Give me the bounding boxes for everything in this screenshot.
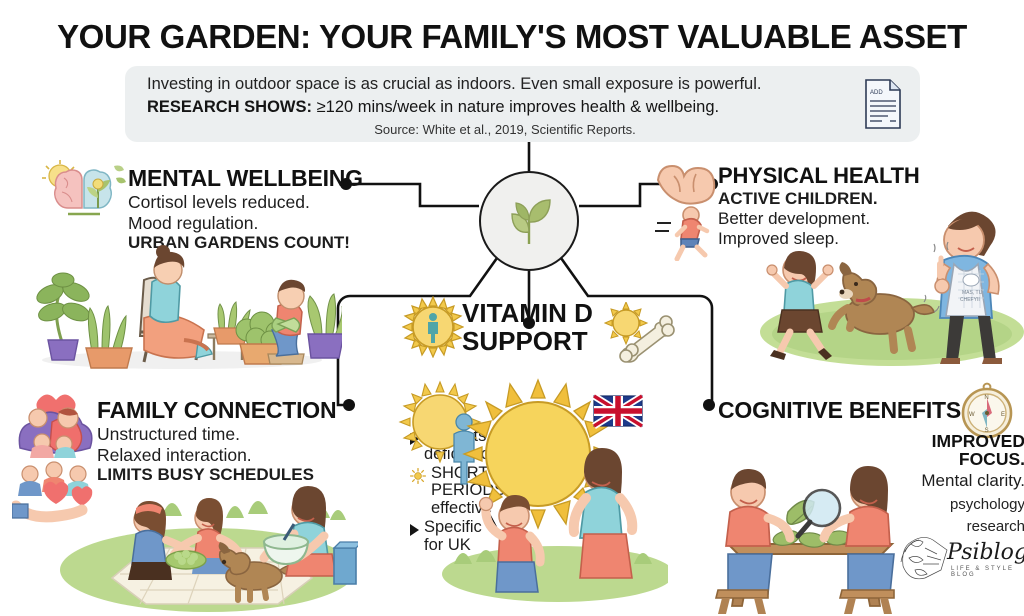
vitamin-d-heading-line2: SUPPORT [462,328,593,356]
illustration-cognitive-scene [700,440,920,616]
doc-icon-text: ADD [870,90,883,96]
logo-wordmark: Psiblog [947,540,1024,565]
compass-n: N [984,395,988,401]
cognitive-body: IMPROVED FOCUS. Mental clarity. psycholo… [905,432,1024,536]
family-line-1: Unstructured time. [97,424,336,445]
callout-line-2: RESEARCH SHOWS: ≥120 mins/week in nature… [147,98,719,117]
mental-line-1: Cortisol levels reduced. [128,192,363,213]
wire-dot-family [343,399,355,411]
uk-flag-icon [594,396,642,426]
running-child-icon [655,205,717,261]
research-shows-label: RESEARCH SHOWS: [147,98,312,116]
cognitive-emphasis-2: FOCUS. [905,450,1024,468]
illustration-physical-scene: MAS, TU CHEFYII [752,182,1024,372]
research-shows-text: ≥120 mins/week in nature improves health… [312,98,719,116]
logo-tagline: LIFE & STYLE BLOG [951,566,1020,578]
mental-heading: MENTAL WELLBEING [128,165,363,192]
family-heading: FAMILY CONNECTION [97,397,336,424]
illustration-family-scene [58,462,358,614]
sprout-leaf-icon [502,194,556,248]
apron-text: MAS, TU [962,290,983,296]
sun-person-icon [402,296,464,358]
research-callout-box: Investing in outdoor space is as crucial… [125,66,920,142]
sun-bone-icon [604,302,676,366]
illustration-mental-scene [32,222,342,370]
cognitive-note-1: psychology [905,497,1024,514]
document-add-icon: ADD [862,77,904,131]
cognitive-emphasis-1: IMPROVED [905,432,1024,450]
wire-dot-cognitive [703,399,715,411]
compass-e: E [1001,412,1005,418]
cognitive-line: Mental clarity. [905,471,1024,491]
hub-node[interactable] [479,171,579,271]
wire-mental [346,184,479,206]
page-title: YOUR GARDEN: YOUR FAMILY'S MOST VALUABLE… [0,18,1024,56]
callout-line-1: Investing in outdoor space is as crucial… [147,75,761,94]
vitamin-d-heading-line1: VITAMIN D [462,300,593,328]
vitamin-d-heading: VITAMIN D SUPPORT [462,300,593,356]
callout-source: Source: White et al., 2019, Scientific R… [125,122,885,137]
infographic-page: YOUR GARDEN: YOUR FAMILY'S MOST VALUABLE… [0,0,1024,616]
brand-logo: Psiblog LIFE & STYLE BLOG [895,528,1020,588]
node-cognitive-benefits[interactable]: COGNITIVE BENEFITS [718,397,961,424]
cognitive-heading: COGNITIVE BENEFITS [718,397,961,424]
flexed-biceps-icon [652,160,720,208]
illustration-vitamin-scene [398,378,668,603]
svg-text:CHEFYII: CHEFYII [960,297,980,303]
compass-w: W [969,412,975,418]
